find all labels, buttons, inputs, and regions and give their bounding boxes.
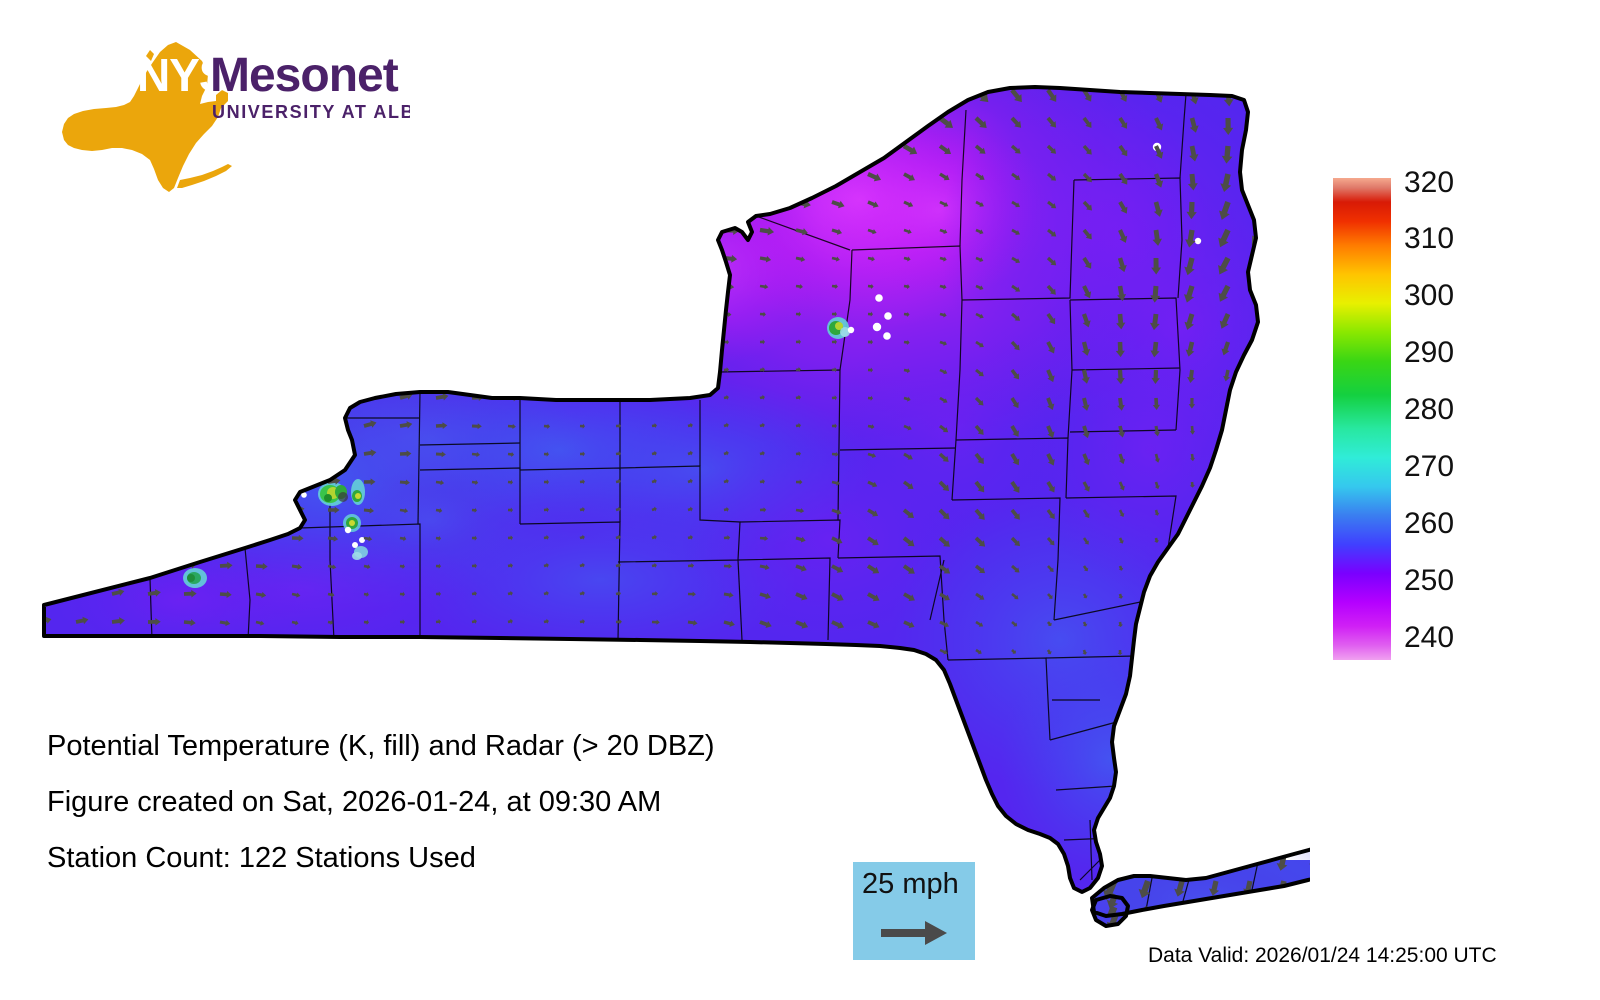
wind-arrow [40, 507, 45, 512]
wind-arrow [650, 189, 674, 208]
wind-arrow [112, 282, 119, 288]
wind-arrow [685, 101, 713, 125]
wind-arrow [543, 110, 562, 123]
wind-arrow [183, 196, 195, 206]
figure-created: Figure created on Sat, 2026-01-24, at 09… [47, 774, 867, 830]
wind-arrow [831, 111, 854, 126]
wind-arrow [760, 197, 778, 209]
wind-arrow [327, 447, 342, 458]
wind-arrow [508, 85, 524, 95]
wind-arrow [290, 78, 309, 94]
wind-arrow [614, 218, 637, 236]
wind-arrow [38, 190, 59, 207]
wind-arrow [110, 133, 133, 152]
wind-arrow [543, 306, 560, 318]
wind-arrow [181, 104, 204, 123]
wind-arrow [112, 451, 118, 457]
wind-arrow [400, 142, 412, 149]
wind-arrow [580, 367, 590, 373]
wind-arrow [542, 189, 564, 208]
wind-arrow [616, 367, 624, 373]
wind-arrow [364, 226, 375, 233]
wind-arrow [400, 225, 414, 234]
wind-arrow [1188, 621, 1195, 628]
wind-arrow [291, 418, 305, 429]
wind-arrow [508, 112, 524, 122]
wind-arrow [147, 477, 157, 485]
wind-arrow [364, 647, 369, 652]
wind-arrow [508, 365, 521, 373]
wind-arrow [795, 109, 820, 125]
wind-arrow [147, 504, 159, 513]
wind-arrow [291, 647, 297, 653]
wind-arrow [39, 588, 51, 597]
wind-arrow [1260, 397, 1267, 405]
colorbar-tick-250: 250 [1404, 566, 1454, 596]
wind-arrow [579, 81, 600, 95]
wind-arrow [74, 221, 90, 234]
wind-arrow [327, 362, 341, 373]
wind-arrow [1255, 340, 1267, 355]
wind-arrow [220, 311, 226, 317]
wind-arrow [327, 309, 339, 318]
colorbar-tick-280: 280 [1404, 395, 1454, 425]
wind-arrow [148, 367, 153, 373]
wind-arrow [74, 133, 99, 152]
wind-arrow [256, 339, 264, 345]
figure-title: Potential Temperature (K, fill) and Rada… [47, 718, 867, 774]
wind-arrow [507, 335, 523, 346]
wind-arrow [40, 535, 48, 541]
wind-arrow [867, 83, 892, 101]
wind-arrow [615, 249, 635, 263]
wind-arrow [542, 217, 564, 236]
wind-arrow [831, 646, 845, 657]
wind-arrow [39, 135, 64, 153]
wind-arrow [75, 106, 101, 125]
wind-arrow [1306, 905, 1310, 926]
wind-arrow [614, 78, 638, 96]
wind-arrow [220, 227, 228, 233]
wind-arrow [40, 479, 45, 484]
wind-arrow [364, 142, 375, 149]
wind-arrow [184, 395, 190, 401]
wind-arrow [687, 647, 699, 656]
wind-arrow [1187, 649, 1194, 656]
wind-arrow [328, 255, 338, 261]
wind-arrow [721, 101, 749, 124]
wind-arrow [38, 250, 52, 262]
wind-arrow [75, 251, 87, 261]
wind-arrow [652, 367, 658, 373]
wind-arrow [39, 108, 65, 125]
wind-arrow [506, 246, 527, 263]
wind-arrow [688, 367, 693, 372]
wind-arrow [470, 275, 490, 291]
colorbar-tick-310: 310 [1404, 224, 1454, 254]
wind-arrow [1259, 509, 1266, 516]
wind-arrow [292, 199, 301, 204]
wind-arrow [183, 647, 195, 655]
wind-arrow [616, 280, 632, 291]
wind-arrow [184, 255, 191, 261]
wind-arrow [328, 199, 338, 205]
wind-arrow [256, 255, 264, 261]
wind-arrow [1259, 536, 1266, 543]
wind-arrow [112, 367, 118, 373]
wind-arrow [327, 418, 342, 430]
wind-arrow [470, 303, 489, 318]
wind-arrow [398, 305, 415, 319]
wind-arrow [652, 339, 661, 345]
wind-arrow [148, 254, 156, 260]
wind-arrow [760, 167, 780, 180]
wind-arrow [1225, 454, 1230, 460]
wind-arrow [543, 136, 564, 151]
wind-arrow [220, 255, 227, 260]
wind-arrow [327, 390, 341, 402]
wind-arrow [74, 161, 96, 179]
wind-arrow [1208, 906, 1221, 923]
wind-arrow [758, 104, 785, 125]
wind-arrow [400, 114, 413, 122]
wind-arrow [111, 253, 121, 261]
wind-arrow [866, 141, 886, 157]
wind-arrow [184, 226, 193, 233]
wind-arrow [254, 107, 272, 122]
wind-arrow [38, 162, 61, 180]
wind-arrow [1260, 425, 1266, 431]
wind-arrow [40, 339, 46, 345]
wind-arrow [364, 113, 377, 122]
wind-arrow [255, 419, 268, 429]
wind-arrow [147, 194, 162, 206]
wind-arrow [76, 367, 81, 373]
wind-arrow [1225, 426, 1230, 433]
wind-arrow [687, 191, 709, 208]
wind-arrow [794, 77, 822, 97]
wind-arrow [1223, 620, 1230, 627]
wind-arrow [112, 646, 125, 654]
wind-arrow [110, 192, 127, 206]
wind-arrow [184, 422, 192, 428]
station-count: Station Count: 122 Stations Used [47, 830, 867, 886]
wind-arrow [759, 646, 774, 658]
wind-legend-arrow-icon [881, 918, 949, 953]
wind-arrow [1173, 906, 1187, 924]
wind-arrow [328, 227, 338, 233]
wind-arrow [76, 339, 81, 344]
wind-arrow [759, 136, 783, 153]
wind-arrow [1207, 854, 1221, 871]
wind-arrow [255, 647, 263, 654]
wind-arrow [578, 247, 599, 263]
wind-arrow [399, 278, 415, 291]
wind-arrow [507, 165, 526, 179]
wind-arrow [76, 451, 81, 456]
wind-arrow [183, 449, 193, 457]
wind-arrow [1256, 648, 1265, 657]
wind-arrow [111, 222, 124, 233]
wind-arrow [1223, 565, 1230, 572]
wind-arrow [39, 562, 49, 569]
wind-arrow [471, 364, 486, 374]
wind-arrow [723, 646, 737, 657]
wind-arrow [76, 423, 81, 429]
wind-arrow [364, 199, 375, 206]
wind-arrow [362, 361, 378, 374]
wind-arrow [147, 531, 161, 541]
wind-arrow [722, 132, 748, 153]
wind-arrow [685, 73, 713, 97]
wind-arrow [616, 339, 627, 346]
wind-arrow [471, 167, 487, 178]
wind-arrow [364, 171, 375, 178]
wind-arrow [796, 140, 817, 153]
wind-arrow [111, 505, 121, 512]
wind-arrow [795, 169, 814, 182]
wind-arrow [256, 227, 264, 232]
wind-arrow [292, 255, 301, 261]
wind-arrow [1260, 453, 1266, 459]
wind-arrow [436, 142, 449, 150]
wind-arrow [145, 104, 170, 124]
wind-arrow [75, 560, 87, 569]
wind-arrow [399, 251, 414, 262]
wind-arrow [255, 503, 269, 513]
wind-arrow [75, 533, 85, 540]
wind-arrow [112, 478, 120, 484]
wind-arrow [831, 140, 852, 155]
wind-arrow [112, 395, 117, 401]
wind-arrow [255, 474, 270, 485]
wind-arrow [616, 647, 624, 653]
wind-arrow [146, 163, 164, 178]
radar-echo-cluster-chautauqua [183, 568, 207, 588]
wind-arrow [363, 333, 379, 345]
wind-arrow [435, 196, 450, 206]
wind-arrow [219, 503, 233, 514]
wind-arrow [1064, 904, 1087, 931]
wind-arrow [471, 646, 477, 652]
wind-arrow [220, 367, 227, 373]
wind-arrow [39, 280, 50, 289]
wind-arrow [580, 647, 586, 652]
wind-arrow [723, 195, 743, 208]
wind-arrow [148, 311, 153, 316]
wind-arrow [578, 217, 601, 236]
wind-arrow [148, 395, 153, 400]
wind-arrow [363, 280, 377, 290]
wind-arrow [220, 283, 227, 289]
wind-arrow [1222, 648, 1230, 656]
wind-arrow [147, 224, 158, 233]
wind-arrow [219, 421, 229, 429]
wind-arrow [1224, 509, 1230, 515]
wind-arrow [616, 310, 629, 318]
wind-arrow [651, 251, 669, 263]
wind-arrow [219, 197, 230, 205]
wind-legend-label: 25 mph [862, 867, 959, 901]
wind-arrow [220, 339, 226, 344]
wind-arrow [1172, 853, 1188, 872]
wind-arrow [38, 219, 56, 234]
wind-arrow [364, 253, 376, 261]
wind-arrow [1259, 564, 1266, 571]
wind-arrow [1225, 482, 1231, 488]
wind-arrow [577, 188, 601, 208]
wind-arrow [183, 475, 195, 485]
wind-arrow [1258, 369, 1267, 380]
wind-arrow [148, 339, 154, 345]
wind-arrow [867, 647, 880, 657]
wind-arrow [291, 446, 306, 458]
wind-arrow [436, 169, 450, 178]
wind-arrow [219, 447, 231, 457]
wind-arrow [111, 532, 123, 541]
wind-arrow [1259, 592, 1266, 599]
wind-arrow [507, 305, 526, 319]
wind-arrow [256, 366, 266, 373]
wind-arrow [399, 84, 414, 94]
wind-arrow [217, 75, 241, 95]
wind-arrow [649, 75, 675, 96]
wind-arrow [901, 84, 926, 104]
wind-arrow [148, 450, 156, 456]
wind-arrow [40, 367, 45, 372]
figure-info-block: Potential Temperature (K, fill) and Rada… [47, 718, 867, 886]
wind-arrow [256, 283, 264, 289]
wind-arrow [110, 77, 137, 97]
wind-arrow [507, 139, 525, 151]
wind-arrow [76, 395, 82, 401]
wind-arrow [613, 131, 638, 152]
wind-arrow [219, 167, 233, 178]
wind-arrow [1249, 171, 1269, 194]
wind-arrow [506, 191, 526, 207]
wind-arrow [148, 283, 154, 288]
wind-arrow [291, 337, 302, 345]
wind-arrow [76, 311, 82, 317]
wind-arrow [1189, 566, 1195, 572]
wind-arrow [434, 276, 452, 291]
wind-arrow [255, 138, 270, 150]
wind-arrow [112, 423, 117, 428]
wind-arrow [76, 506, 84, 512]
wind-arrow [435, 362, 451, 374]
wind-arrow [652, 647, 662, 654]
wind-arrow [471, 333, 488, 346]
wind-arrow [436, 85, 450, 94]
wind-arrow [253, 76, 275, 95]
wind-arrow [39, 644, 53, 654]
wind-arrow [579, 278, 598, 291]
wind-arrow [507, 646, 513, 652]
wind-arrow [1189, 538, 1194, 543]
wind-arrow [399, 361, 415, 374]
wind-arrow [400, 647, 406, 653]
wind-arrow [652, 282, 666, 291]
wind-arrow [832, 82, 857, 97]
wind-arrow [544, 84, 562, 95]
wind-arrow [472, 141, 487, 151]
wind-arrow [1241, 906, 1255, 923]
wind-arrow [184, 283, 190, 288]
wind-arrow [580, 309, 595, 319]
wind-arrow [688, 339, 695, 345]
wind-arrow [256, 198, 266, 204]
wind-arrow [472, 86, 486, 95]
wind-arrow [112, 339, 117, 345]
wind-arrow [328, 647, 334, 653]
wind-arrow [218, 136, 235, 150]
wind-arrow [182, 165, 198, 178]
wind-arrow [434, 304, 452, 319]
wind-arrow [291, 109, 307, 122]
wind-arrow [1135, 853, 1153, 875]
wind-arrow [1256, 89, 1270, 109]
wind-arrow [255, 169, 267, 178]
wind-arrow [147, 559, 161, 570]
wind-arrow [542, 162, 564, 179]
wind-arrow [757, 74, 786, 97]
wind-arrow [75, 281, 84, 288]
wind-arrow [183, 503, 197, 514]
data-valid-timestamp: Data Valid: 2026/01/24 14:25:00 UTC [1148, 944, 1497, 968]
wind-arrow [181, 75, 207, 96]
wind-arrow [255, 446, 269, 457]
colorbar-tick-320: 320 [1404, 168, 1454, 198]
wind-arrow [436, 114, 449, 122]
wind-arrow [687, 223, 706, 236]
wind-arrow [1274, 905, 1289, 924]
wind-arrow [218, 105, 238, 122]
wind-arrow [110, 162, 130, 179]
wind-arrow [327, 335, 340, 345]
wind-arrow [184, 311, 189, 317]
wind-arrow [400, 170, 412, 177]
wind-arrow [1258, 620, 1266, 628]
wind-arrow [1251, 144, 1269, 167]
wind-arrow [434, 332, 452, 346]
wind-arrow [182, 134, 201, 150]
wind-arrow [148, 646, 161, 654]
temperature-colorbar [1333, 178, 1391, 660]
wind-arrow [471, 194, 489, 207]
wind-arrow [183, 531, 197, 542]
wind-arrow [1152, 649, 1158, 655]
wind-arrow [184, 367, 189, 372]
wind-arrow [649, 130, 675, 153]
colorbar-tick-240: 240 [1404, 623, 1454, 653]
wind-arrow [688, 311, 698, 317]
wind-arrow [112, 311, 117, 316]
wind-arrow [578, 107, 600, 124]
wind-arrow [723, 163, 746, 180]
wind-arrow [328, 141, 340, 149]
wind-arrow [544, 647, 550, 653]
wind-arrow [184, 339, 189, 345]
wind-arrow [110, 104, 136, 124]
wind-arrow [256, 311, 264, 316]
wind-arrow [1188, 593, 1194, 599]
wind-arrow [577, 160, 601, 180]
colorbar-tick-270: 270 [1404, 452, 1454, 482]
wind-arrow [613, 159, 638, 180]
wind-arrow [291, 391, 304, 401]
wind-arrow [255, 393, 266, 401]
wind-arrow [76, 479, 81, 484]
